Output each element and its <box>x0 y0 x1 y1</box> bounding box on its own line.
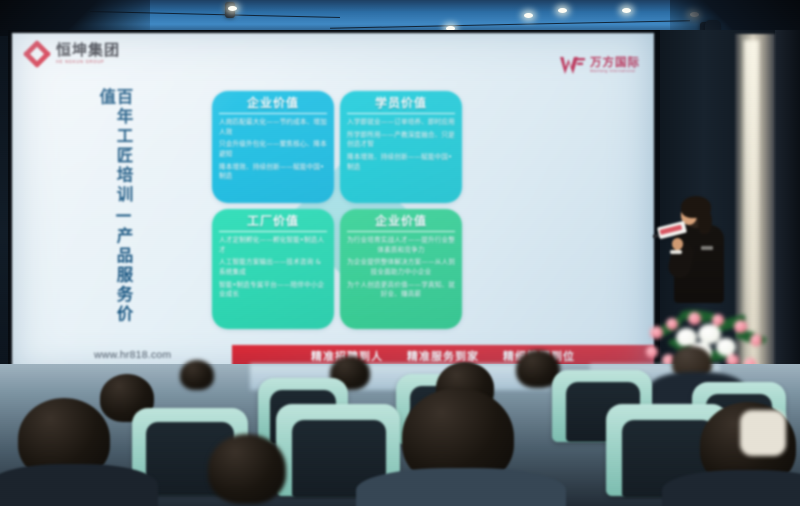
audience-shoulders <box>662 470 800 506</box>
value-box-items: 为行业培育实战人才——提升行业整体素质和竞争力 为企业提供整体解决方案——从人到… <box>347 236 455 299</box>
presenter-wristband <box>670 250 682 254</box>
audience-light-shirt <box>740 410 786 456</box>
value-box-factory: 工厂价值 人才定制孵化——孵化智能•制造人才 人工智能方案输出——技术咨询 & … <box>212 209 334 329</box>
value-box-items: 人才定制孵化——孵化智能•制造人才 人工智能方案输出——技术咨询 & 系统集成 … <box>219 236 327 299</box>
audience-shoulders <box>0 464 158 506</box>
value-box-title: 企业价值 <box>347 215 455 232</box>
presenter-shirt-logo <box>701 246 713 250</box>
audience-shoulders <box>356 468 566 506</box>
value-box-items: 入学即就业——订单培养、即时应用 所学即所用——产教深度融合、只是创造才智 降本… <box>347 118 455 172</box>
value-item: 为企业提供整体解决方案——从人到技全面助力中小企业 <box>347 258 455 277</box>
spotlight-icon <box>558 8 567 13</box>
spotlight-icon <box>228 6 237 11</box>
audience-head <box>208 434 286 504</box>
value-item: 所学即所用——产教深度融合、只是创造才智 <box>347 131 455 150</box>
value-box-title: 学员价值 <box>347 97 455 114</box>
value-item: 为个人创造更高价值——学真知、就好业、赚高薪 <box>347 281 455 300</box>
projection-screen: 恒坤集团 HE NGKUN GROUP 万方国际 Wanfang Interna… <box>12 33 654 381</box>
value-box-student: 学员价值 入学即就业——订单培养、即时应用 所学即所用——产教深度融合、只是创造… <box>340 91 462 203</box>
slide-website-url: www.hr818.com <box>94 349 171 361</box>
value-box-grid: 企业价值 人岗匹配最大化——节约成本、增加人效 只会升级外包化——聚焦核心、降本… <box>12 33 654 381</box>
value-item: 入学即就业——订单培养、即时应用 <box>347 118 455 127</box>
conference-room-photo: 恒坤集团 HE NGKUN GROUP 万方国际 Wanfang Interna… <box>0 0 800 506</box>
value-item: 人工智能方案输出——技术咨询 & 系统集成 <box>219 258 327 277</box>
value-item: 为行业培育实战人才——提升行业整体素质和竞争力 <box>347 236 455 255</box>
spotlight-icon <box>524 13 533 18</box>
value-item: 人才定制孵化——孵化智能•制造人才 <box>219 236 327 255</box>
presenter-hair-back <box>698 208 712 234</box>
value-box-enterprise-top: 企业价值 人岗匹配最大化——节约成本、增加人效 只会升级外包化——聚焦核心、降本… <box>212 91 334 203</box>
value-item: 降本增效、持续创新——赋能中国•制造 <box>219 163 327 182</box>
value-box-title: 企业价值 <box>219 97 327 114</box>
value-item: 只会升级外包化——聚焦核心、降本避短 <box>219 140 327 159</box>
value-box-enterprise-bottom: 企业价值 为行业培育实战人才——提升行业整体素质和竞争力 为企业提供整体解决方案… <box>340 209 462 329</box>
value-box-title: 工厂价值 <box>219 215 327 232</box>
audience-area <box>0 364 800 506</box>
presenter-hand <box>672 238 683 250</box>
ceiling-wire <box>330 20 690 29</box>
value-item: 降本增效、持续创新——赋能中国•制造 <box>347 153 455 172</box>
value-item: 人岗匹配最大化——节约成本、增加人效 <box>219 118 327 137</box>
spotlight-icon <box>622 8 631 13</box>
value-item: 智能•制造专属平台——陪伴中小企业成长 <box>219 281 327 300</box>
value-box-items: 人岗匹配最大化——节约成本、增加人效 只会升级外包化——聚焦核心、降本避短 降本… <box>219 118 327 181</box>
audience-head <box>180 360 214 390</box>
